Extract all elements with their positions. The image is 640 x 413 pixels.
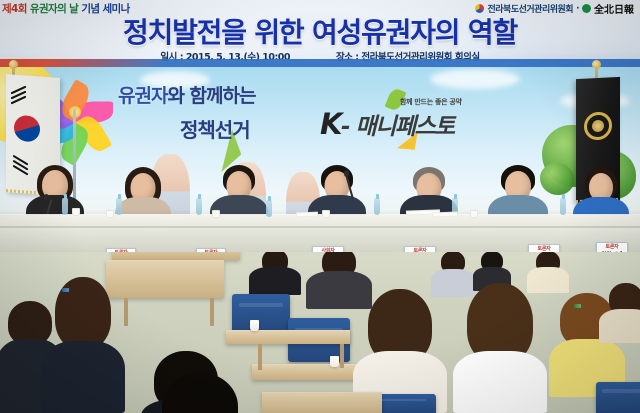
cloud-graphic-2 [430,69,520,89]
audience-body [453,351,547,413]
banner-meta: 일시 : 2015. 5. 13.(수) 10:00 장소 : 전라북도선거관리… [0,49,640,63]
audience-body [41,341,125,413]
desk-leg [258,344,262,370]
seminar-photograph: 제4회 유권자의 날 기념 세미나 전라북도선거관리위원회 · 全北日報 정치발… [0,0,640,413]
audience-person-back-1 [248,252,302,295]
brand-logo-text: K- 매니페스토 [320,107,454,141]
nameplate-role: 토론자 [606,244,619,250]
microphone-head-icon [344,170,349,177]
government-emblem-icon [584,111,612,140]
audience-paper-cup-1 [250,320,259,331]
audience-desk-mid-1 [112,252,240,260]
flag-finial-right-icon [592,60,601,69]
desk-leg [210,298,214,326]
banner-title: 정치발전을 위한 여성유권자의 역할 [0,11,640,51]
backdrop-slogan-rest: 와 함께하는 [167,85,255,107]
desk-leg [340,344,344,368]
paper-cup [212,210,220,218]
water-bottle [62,198,68,215]
banner-datetime: 일시 : 2015. 5. 13.(수) 10:00 [160,49,290,63]
microphone-head-icon [44,194,49,201]
audience-desk-front-3 [262,392,382,413]
audience-body [599,309,640,343]
audience-area [0,252,640,413]
taeguk-symbol-icon [14,115,40,143]
brand-logo-k: K [320,107,341,141]
audience-body [249,267,301,295]
flag-finial-left-icon [9,60,18,69]
document-paper [296,212,318,218]
backdrop-slogan-highlight: 유권자 [118,85,167,107]
paper-cup [72,208,80,216]
event-banner: 제4회 유권자의 날 기념 세미나 전라북도선거관리위원회 · 全北日報 정치발… [0,0,640,67]
paper-cup [106,210,114,218]
paper-cup [470,210,478,218]
audience-person-front-5 [452,283,548,413]
audience-person-front-7 [598,283,640,343]
audience-desk-front-1 [226,330,350,344]
water-bottle [374,198,380,215]
water-bottle [266,200,272,217]
audience-person-front-8 [148,373,252,413]
audience-chair-5 [596,382,640,413]
audience-person-front-2 [40,277,126,413]
hair-clip-accessory [62,288,69,292]
water-bottle [196,198,202,215]
brand-logo-rest: - 매니페스토 [341,114,454,140]
water-bottle [560,198,566,215]
hair-clip-accessory [574,304,581,308]
paper-cup [322,210,330,218]
document-paper [432,212,458,218]
banner-location: 장소 : 전라북도선거관리위원회 회의실 [336,49,480,63]
audience-paper-cup-2 [330,356,339,367]
water-bottle [116,198,122,215]
brand-tagline: 함께 만드는 좋은 공약 [400,97,462,107]
backdrop-slogan-line1: 유권자와 함께하는 [118,81,255,108]
audience-head [162,373,238,413]
backdrop-slogan-line2: 정책선거 [180,114,250,143]
